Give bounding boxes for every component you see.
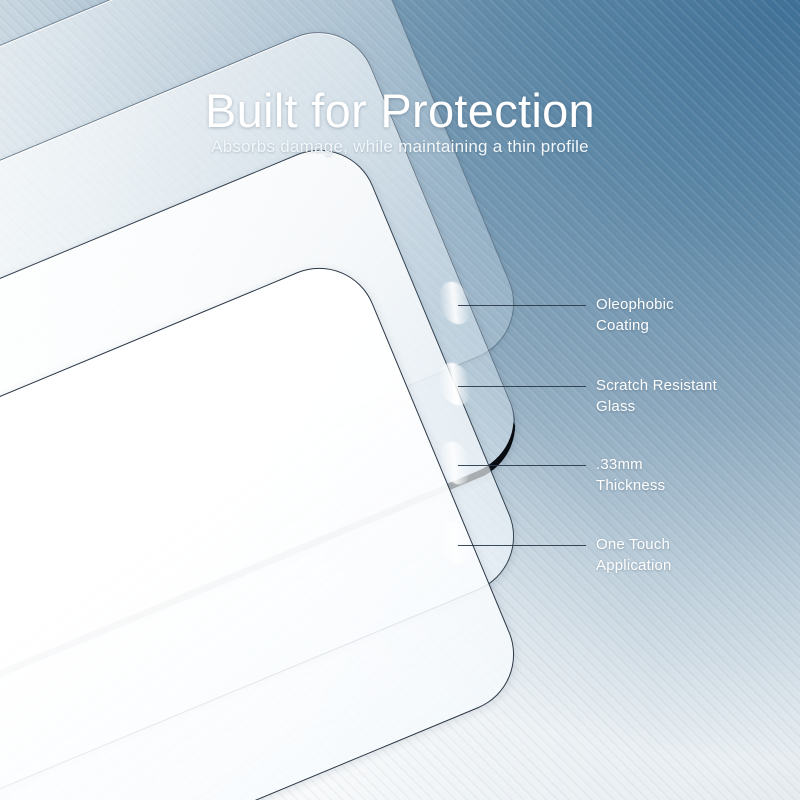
leader-line-one-touch-application: [458, 545, 586, 546]
leader-line-thickness: [458, 465, 586, 466]
feature-label-oleophobic-coating: Oleophobic Coating: [596, 295, 674, 336]
feature-label-thickness: .33mm Thickness: [596, 455, 665, 496]
feature-label-one-touch-application: One Touch Application: [596, 535, 672, 576]
feature-label-scratch-resistant-glass: Scratch Resistant Glass: [596, 376, 717, 417]
leader-line-scratch-resistant-glass: [458, 386, 586, 387]
page-subtitle: Absorbs damage, while maintaining a thin…: [0, 137, 800, 157]
product-feature-graphic: Built for Protection Absorbs damage, whi…: [0, 0, 800, 800]
page-title: Built for Protection: [0, 83, 800, 138]
leader-line-oleophobic-coating: [458, 305, 586, 306]
